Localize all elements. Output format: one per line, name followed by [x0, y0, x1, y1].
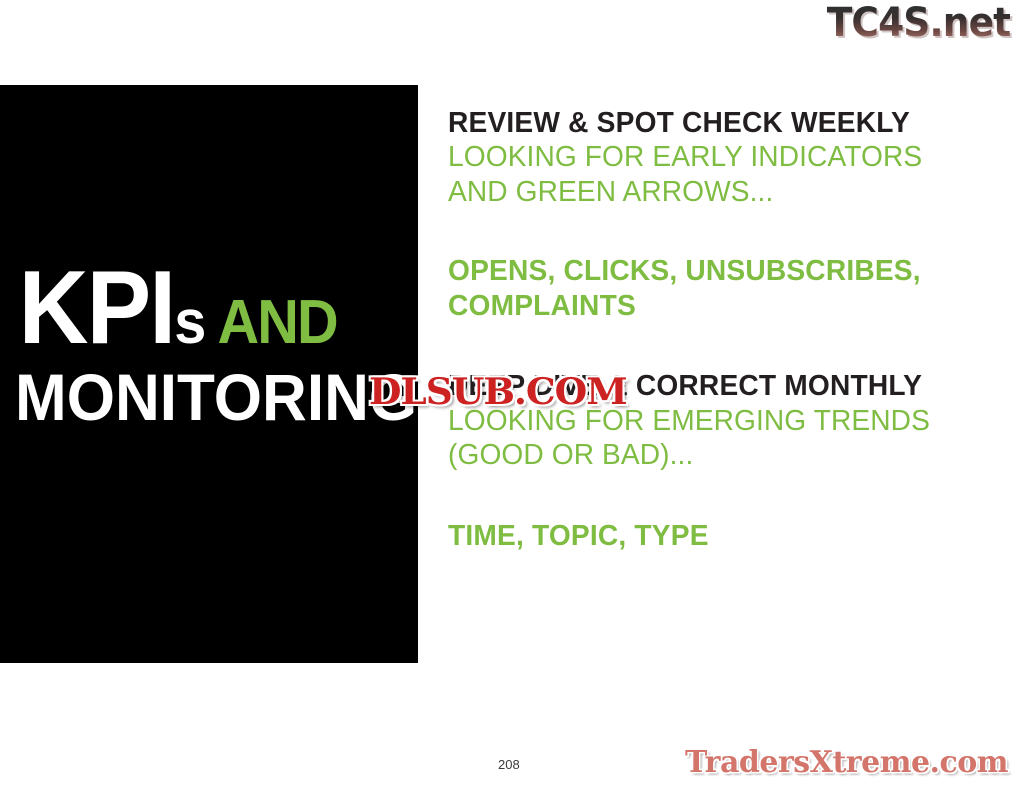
- slide-canvas: TC4S.net TC4S.net KPIsAND MONITORING REV…: [0, 0, 1024, 791]
- bullet-detail-deep-dive: LOOKING FOR EMERGING TRENDS (GOOD OR BAD…: [448, 404, 960, 474]
- page-number: 208: [498, 757, 520, 772]
- bullet-metrics-monthly: TIME, TOPIC, TYPE: [448, 519, 960, 554]
- bullet-group-review: REVIEW & SPOT CHECK WEEKLY LOOKING FOR E…: [448, 106, 976, 210]
- bullet-detail-review: LOOKING FOR EARLY INDICATORS AND GREEN A…: [448, 140, 960, 210]
- bullet-metrics-weekly: OPENS, CLICKS, UNSUBSCRIBES, COMPLAINTS: [448, 254, 960, 324]
- title-line-secondary: MONITORING: [0, 367, 393, 428]
- title-block: KPIsAND MONITORING: [0, 261, 418, 427]
- title-kpi-text: KPI: [19, 250, 175, 366]
- footer-site-logo: TradersXtreme.com: [685, 745, 1008, 780]
- title-line-primary: KPIsAND: [0, 261, 389, 357]
- title-conjunction-text: AND: [217, 288, 336, 357]
- title-suffix-text: s: [174, 288, 206, 357]
- brand-logo: TC4S.net: [827, 2, 1010, 44]
- bullet-group-weekly-metrics: OPENS, CLICKS, UNSUBSCRIBES, COMPLAINTS: [448, 254, 976, 324]
- bullet-heading-review: REVIEW & SPOT CHECK WEEKLY: [448, 106, 960, 140]
- dlsub-watermark: DLSUB.COM: [369, 371, 627, 413]
- content-column: REVIEW & SPOT CHECK WEEKLY LOOKING FOR E…: [448, 106, 976, 554]
- title-panel: KPIsAND MONITORING: [0, 85, 418, 663]
- bullet-group-monthly-metrics: TIME, TOPIC, TYPE: [448, 519, 976, 554]
